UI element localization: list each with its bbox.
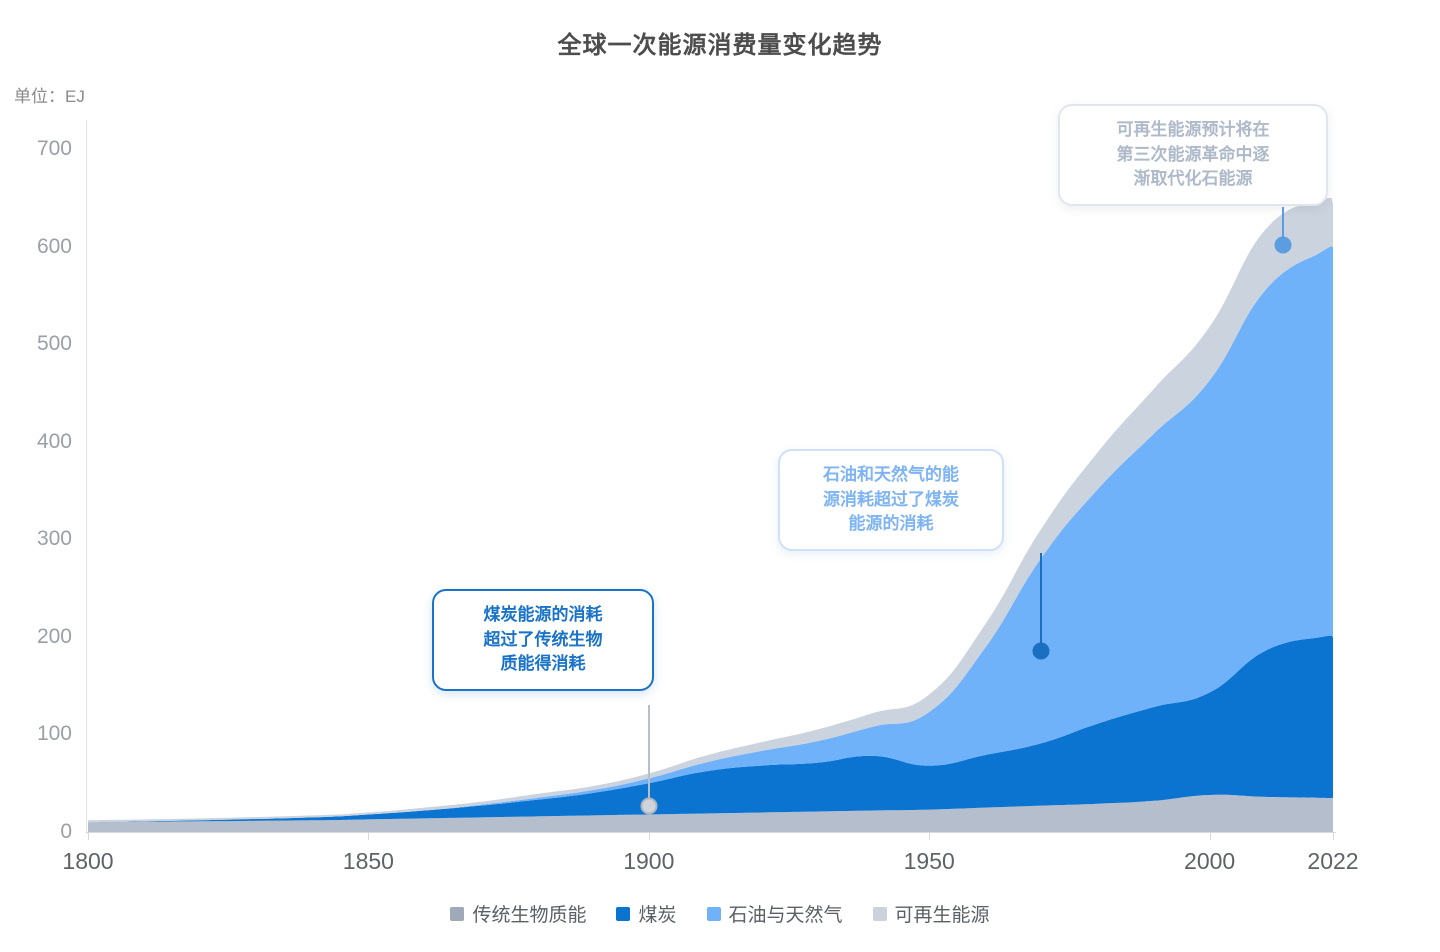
y-axis-unit-label: 单位：EJ xyxy=(14,82,85,107)
x-tick-mark-1850 xyxy=(368,832,369,840)
legend-swatch-icon-oilgas xyxy=(707,907,721,921)
legend-swatch-icon-coal xyxy=(616,907,630,921)
leader-dot-renewables-replace-fossil xyxy=(1274,236,1291,253)
leader-line-coal-over-biomass xyxy=(648,705,650,806)
legend-swatch-icon-renewables xyxy=(873,907,887,921)
y-tick-200: 200 xyxy=(37,625,72,649)
y-tick-500: 500 xyxy=(37,332,72,356)
y-tick-600: 600 xyxy=(37,235,72,259)
x-tick-mark-2022 xyxy=(1333,832,1334,840)
y-axis-ticks: 0100200300400500600700 xyxy=(0,120,86,832)
x-tick-mark-1800 xyxy=(88,832,89,840)
legend-label-renewables: 可再生能源 xyxy=(895,900,990,927)
legend-item-coal[interactable]: 煤炭 xyxy=(616,900,676,927)
legend-swatch-icon-biomass xyxy=(450,907,464,921)
annotation-oilgas-over-coal: 石油和天然气的能 源消耗超过了煤炭 能源的消耗 xyxy=(778,449,1004,551)
leader-dot-oilgas-over-coal xyxy=(1033,642,1050,659)
stacked-area-series xyxy=(88,120,1333,832)
legend-label-coal: 煤炭 xyxy=(638,900,676,927)
x-tick-1900: 1900 xyxy=(623,848,674,875)
y-tick-100: 100 xyxy=(37,722,72,746)
legend-item-renewables[interactable]: 可再生能源 xyxy=(873,900,990,927)
chart-legend: 传统生物质能煤炭石油与天然气可再生能源 xyxy=(0,900,1440,927)
x-tick-1950: 1950 xyxy=(904,848,955,875)
x-tick-mark-1950 xyxy=(929,832,930,840)
y-tick-700: 700 xyxy=(37,137,72,161)
annotation-coal-over-biomass: 煤炭能源的消耗 超过了传统生物 质能得消耗 xyxy=(432,589,654,691)
y-tick-400: 400 xyxy=(37,430,72,454)
legend-label-biomass: 传统生物质能 xyxy=(472,900,586,927)
leader-line-oilgas-over-coal xyxy=(1040,553,1042,651)
energy-area-chart: 全球一次能源消费量变化趋势 单位：EJ 01002003004005006007… xyxy=(0,0,1440,952)
legend-item-oilgas[interactable]: 石油与天然气 xyxy=(707,900,843,927)
plot-area xyxy=(88,120,1333,832)
y-tick-300: 300 xyxy=(37,527,72,551)
legend-label-oilgas: 石油与天然气 xyxy=(729,900,843,927)
annotation-renewables-replace-fossil: 可再生能源预计将在 第三次能源革命中逐 渐取代化石能源 xyxy=(1058,104,1328,206)
x-axis-ticks: 180018501900195020002022 xyxy=(0,832,1440,876)
x-tick-mark-2000 xyxy=(1210,832,1211,840)
x-tick-mark-1900 xyxy=(649,832,650,840)
y-axis-line xyxy=(86,120,87,834)
page-title: 全球一次能源消费量变化趋势 xyxy=(0,25,1440,60)
leader-dot-coal-over-biomass xyxy=(640,797,657,814)
x-tick-2000: 2000 xyxy=(1184,848,1235,875)
x-tick-1850: 1850 xyxy=(343,848,394,875)
legend-item-biomass[interactable]: 传统生物质能 xyxy=(450,900,586,927)
x-tick-1800: 1800 xyxy=(62,848,113,875)
x-tick-2022: 2022 xyxy=(1307,848,1358,875)
